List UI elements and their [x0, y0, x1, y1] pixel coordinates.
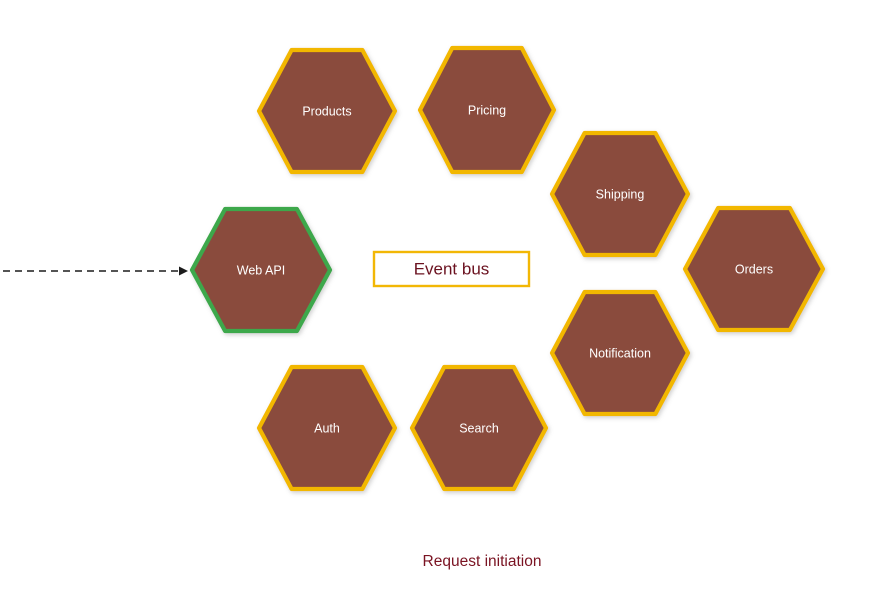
hexagon-label-auth: Auth — [314, 421, 340, 435]
hexagon-label-products: Products — [302, 104, 351, 118]
hexagon-node-products[interactable]: Products — [259, 50, 395, 172]
hexagon-label-shipping: Shipping — [596, 187, 645, 201]
hexagon-label-pricing: Pricing — [468, 103, 506, 117]
hexagon-label-orders: Orders — [735, 262, 773, 276]
hexagon-label-search: Search — [459, 421, 499, 435]
hexagon-node-notification[interactable]: Notification — [552, 292, 688, 414]
hexagon-node-web-api[interactable]: Web API — [192, 209, 330, 331]
microservices-hexagon-diagram: ProductsPricingShippingOrdersNotificatio… — [0, 0, 894, 594]
diagram-caption: Request initiation — [423, 553, 542, 570]
hexagon-node-search[interactable]: Search — [412, 367, 546, 489]
entry-arrow-group — [3, 267, 188, 276]
hexagon-node-orders[interactable]: Orders — [685, 208, 823, 330]
hexagon-node-auth[interactable]: Auth — [259, 367, 395, 489]
request-arrow-head — [179, 267, 188, 276]
event-bus-node[interactable]: Event bus — [374, 252, 529, 286]
event-bus-label: Event bus — [414, 259, 490, 278]
hexagon-label-notification: Notification — [589, 346, 651, 360]
hexagon-node-shipping[interactable]: Shipping — [552, 133, 688, 255]
diagram-canvas: ProductsPricingShippingOrdersNotificatio… — [0, 0, 894, 594]
hexagon-node-pricing[interactable]: Pricing — [420, 48, 554, 172]
hexagon-label-web-api: Web API — [237, 263, 285, 277]
